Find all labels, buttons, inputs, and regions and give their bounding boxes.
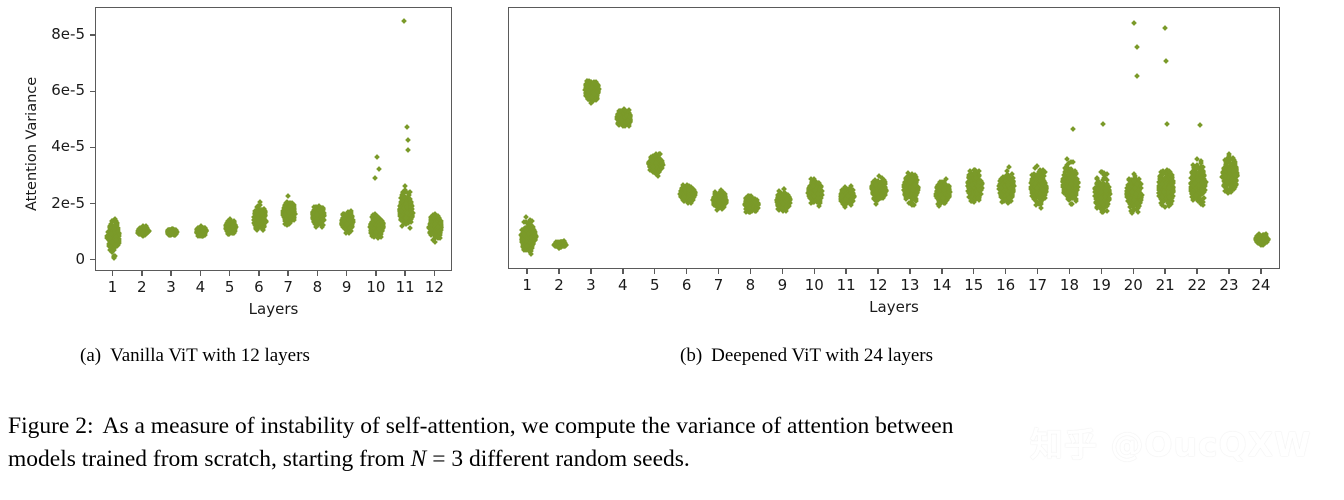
x-tick-label: 5 <box>214 278 246 296</box>
data-point <box>528 251 534 257</box>
x-tick-label: 4 <box>184 278 216 296</box>
x-tick-mark <box>287 271 288 276</box>
x-tick-mark <box>258 271 259 276</box>
x-tick-label: 11 <box>389 278 421 296</box>
data-point-outlier <box>402 18 408 24</box>
x-tick-label: 12 <box>418 278 450 296</box>
panel-vanilla-vit: Attention Variance 02e-54e-56e-58e-5 123… <box>0 0 500 330</box>
x-tick-mark <box>434 271 435 276</box>
x-tick-mark <box>346 271 347 276</box>
data-point <box>285 194 291 200</box>
data-point-outlier <box>376 167 382 173</box>
y-tick-label: 6e-5 <box>37 81 85 99</box>
plot-axes-a <box>95 7 452 271</box>
x-tick-mark <box>200 271 201 276</box>
subcaption-a-text: Vanilla ViT with 12 layers <box>110 345 310 366</box>
data-point-outlier <box>404 125 410 131</box>
scatter-points-a <box>96 8 451 270</box>
x-tick-label: 3 <box>155 278 187 296</box>
figure-container: Attention Variance 02e-54e-56e-58e-5 123… <box>0 0 1344 500</box>
scatter-points-b <box>509 8 1279 268</box>
data-point-outlier <box>372 175 378 181</box>
y-tick-label: 4e-5 <box>37 137 85 155</box>
plot-axes-b <box>508 7 1280 269</box>
y-tick-label: 2e-5 <box>37 194 85 212</box>
x-tick-mark <box>404 271 405 276</box>
x-tick-mark <box>229 271 230 276</box>
panel-deepened-vit: 123456789101112131415161718192021222324 … <box>500 0 1344 330</box>
y-tick-label: 8e-5 <box>37 25 85 43</box>
x-tick-label: 1 <box>97 278 129 296</box>
x-tick-mark <box>170 271 171 276</box>
data-point <box>407 225 413 231</box>
x-tick-mark <box>317 271 318 276</box>
x-tick-mark <box>141 271 142 276</box>
subcaption-a-tag: (a) <box>80 345 101 366</box>
subcaption-a: (a)Vanilla ViT with 12 layers <box>80 345 310 367</box>
x-tick-label: 7 <box>272 278 304 296</box>
x-tick-label: 2 <box>126 278 158 296</box>
x-axis-label: Layers <box>174 300 374 318</box>
x-tick-mark <box>112 271 113 276</box>
y-tick-label: 0 <box>37 250 85 268</box>
data-point-outlier <box>405 147 411 153</box>
x-tick-label: 6 <box>243 278 275 296</box>
x-tick-label: 9 <box>331 278 363 296</box>
x-tick-label: 10 <box>360 278 392 296</box>
data-point-outlier <box>406 137 412 143</box>
x-tick-label: 8 <box>301 278 333 296</box>
x-tick-mark <box>375 271 376 276</box>
data-point <box>408 189 414 195</box>
data-point-outlier <box>374 154 380 160</box>
